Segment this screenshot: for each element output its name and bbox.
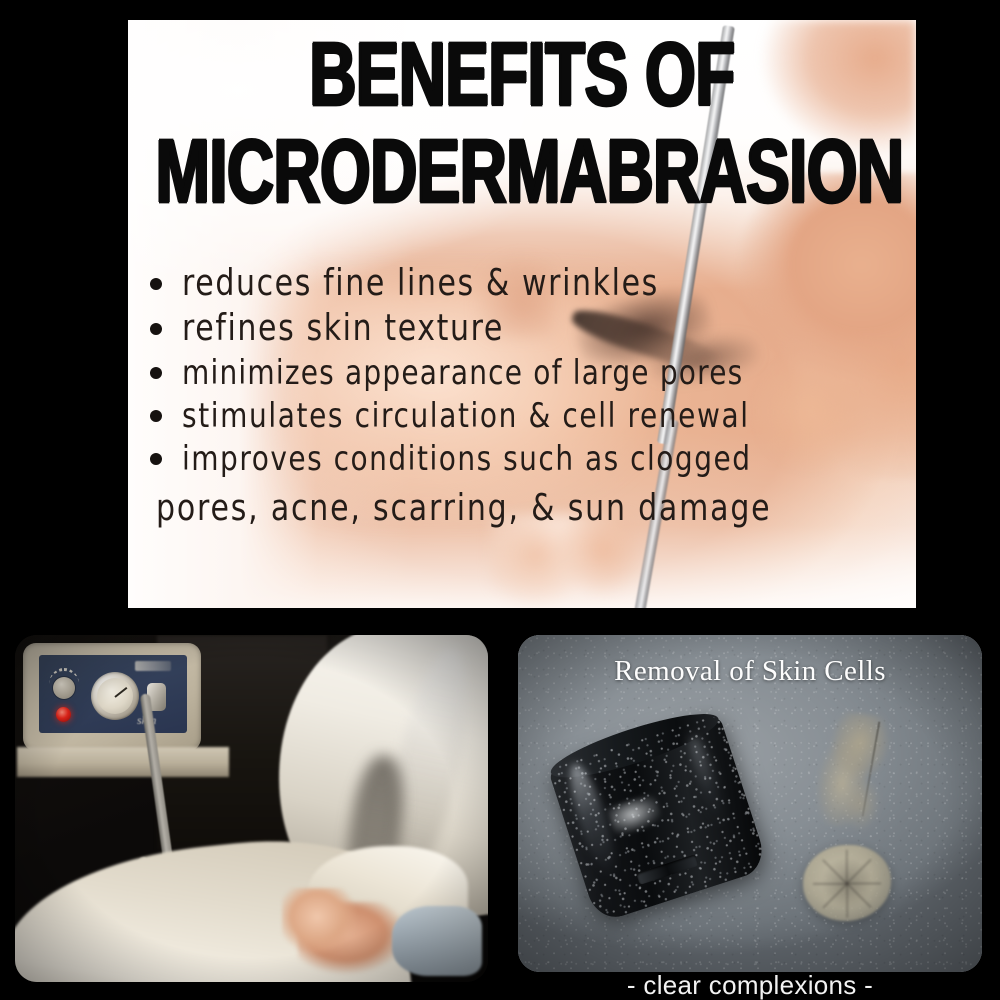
headline-line-1: BENEFITS OF	[156, 32, 889, 118]
list-item: improves conditions such as clogged	[150, 442, 908, 475]
skin-cells-title: Removal of Skin Cells	[518, 655, 982, 688]
list-item-label: minimizes appearance of large pores	[182, 352, 743, 392]
list-item-label: improves conditions such as clogged	[182, 438, 751, 478]
list-item-label: reduces fine lines & wrinkles	[182, 262, 659, 305]
vignette-overlay	[15, 635, 488, 982]
list-item-continuation: pores, acne, scarring, & sun damage	[156, 487, 908, 530]
bullet-dot-icon	[150, 278, 162, 290]
bullet-dot-icon	[150, 367, 162, 379]
photo-collage: BENEFITS OF MICRODERMABRASION reduces fi…	[0, 0, 1000, 1000]
benefits-list: reduces fine lines & wrinkles refines sk…	[150, 266, 908, 526]
headline-line-2: MICRODERMABRASION	[156, 129, 889, 215]
list-item: reduces fine lines & wrinkles	[150, 266, 908, 301]
list-item: stimulates circulation & cell renewal	[150, 399, 908, 432]
bottom-right-panel-skin-cells: Removal of Skin Cells	[518, 635, 982, 972]
brand-caption: - clear complexions -	[518, 970, 982, 1000]
list-item: refines skin texture	[150, 311, 908, 346]
page-title: BENEFITS OF MICRODERMABRASION	[128, 32, 916, 196]
bottom-left-panel-clinic: skin	[15, 635, 488, 982]
list-item: minimizes appearance of large pores	[150, 356, 908, 389]
bullet-dot-icon	[150, 410, 162, 422]
top-panel-benefits: BENEFITS OF MICRODERMABRASION reduces fi…	[128, 20, 916, 608]
list-item-label: refines skin texture	[182, 307, 504, 350]
list-item-label: stimulates circulation & cell renewal	[182, 395, 750, 435]
bullet-dot-icon	[150, 453, 162, 465]
bullet-dot-icon	[150, 323, 162, 335]
